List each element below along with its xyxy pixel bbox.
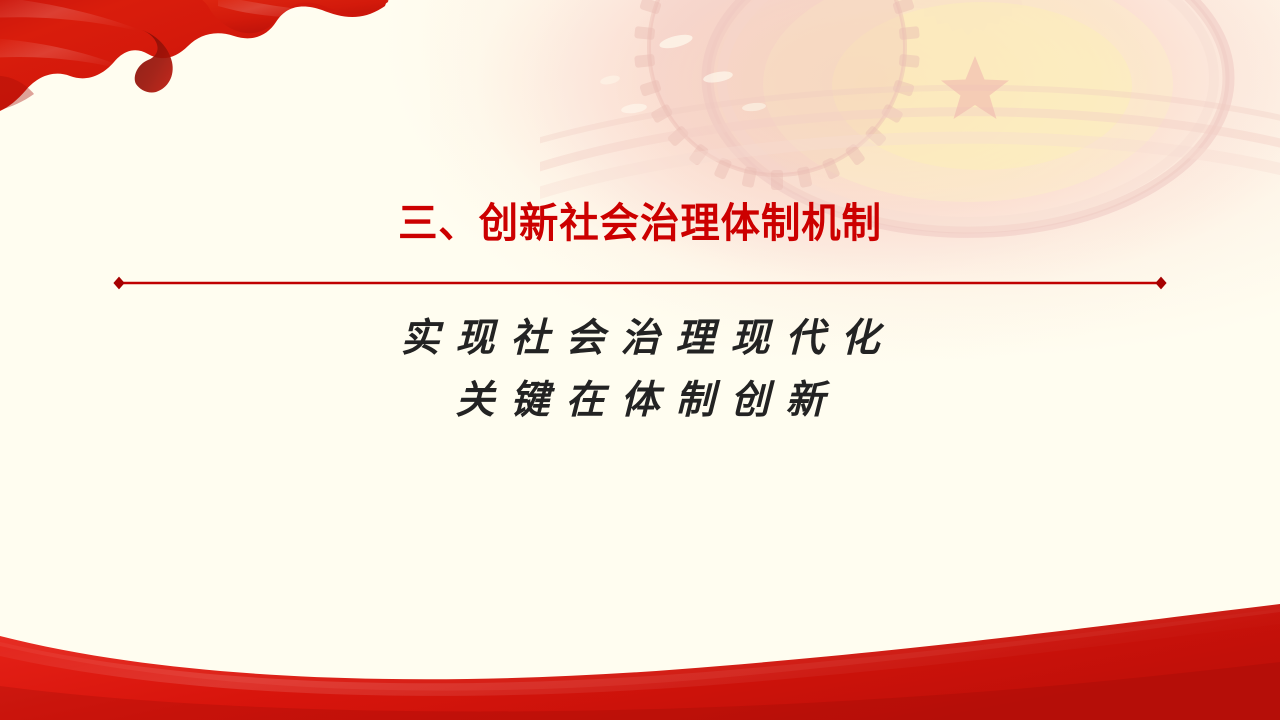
subtitle-line-1: 实现社会治理现代化 [0, 308, 1280, 370]
page-title: 三、创新社会治理体制机制 [26, 199, 1255, 247]
subtitle-block: 实现社会治理现代化 关键在体制创新 [0, 308, 1280, 432]
subtitle-line-2: 关键在体制创新 [0, 370, 1280, 432]
title-divider [112, 276, 1168, 290]
slide-content: 三、创新社会治理体制机制 实现社会治理现代化 关键在体制创新 [0, 0, 1280, 720]
slide-canvas: 三、创新社会治理体制机制 实现社会治理现代化 关键在体制创新 [0, 0, 1280, 720]
